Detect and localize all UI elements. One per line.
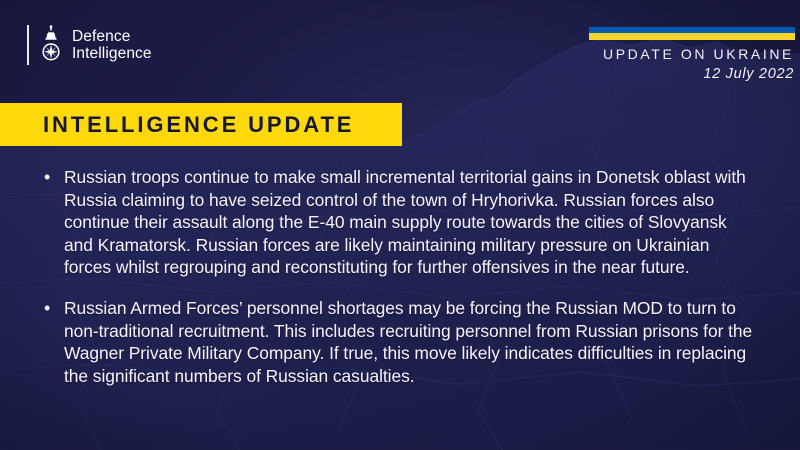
defence-intelligence-logo: Defence Intelligence <box>27 24 152 66</box>
update-title: UPDATE ON UKRAINE <box>603 45 794 63</box>
vertical-rule-divider-icon <box>27 25 29 65</box>
banner-label: INTELLIGENCE UPDATE <box>43 114 354 136</box>
update-date: 12 July 2022 <box>603 65 794 84</box>
bullet-list: • Russian troops continue to make small … <box>41 166 759 405</box>
brand-line-1: Defence <box>72 28 152 46</box>
intelligence-update-slide: Defence Intelligence UPDATE ON UKRAINE 1… <box>0 0 800 450</box>
list-item: • Russian troops continue to make small … <box>41 166 759 279</box>
list-item: • Russian Armed Forces’ personnel shorta… <box>41 297 759 387</box>
royal-crest-compass-icon <box>38 25 64 65</box>
brand-line-2: Intelligence <box>72 45 152 63</box>
ukraine-flag-bar-icon <box>589 27 795 40</box>
bullet-paragraph: Russian troops continue to make small in… <box>64 166 759 279</box>
brand-wordmark: Defence Intelligence <box>72 28 152 63</box>
intelligence-update-banner: INTELLIGENCE UPDATE <box>0 103 402 146</box>
bullet-marker-icon: • <box>41 166 64 189</box>
bullet-marker-icon: • <box>41 297 64 320</box>
flag-stripe-yellow <box>589 33 795 40</box>
update-heading-block: UPDATE ON UKRAINE 12 July 2022 <box>603 45 794 84</box>
bullet-paragraph: Russian Armed Forces’ personnel shortage… <box>64 297 759 387</box>
